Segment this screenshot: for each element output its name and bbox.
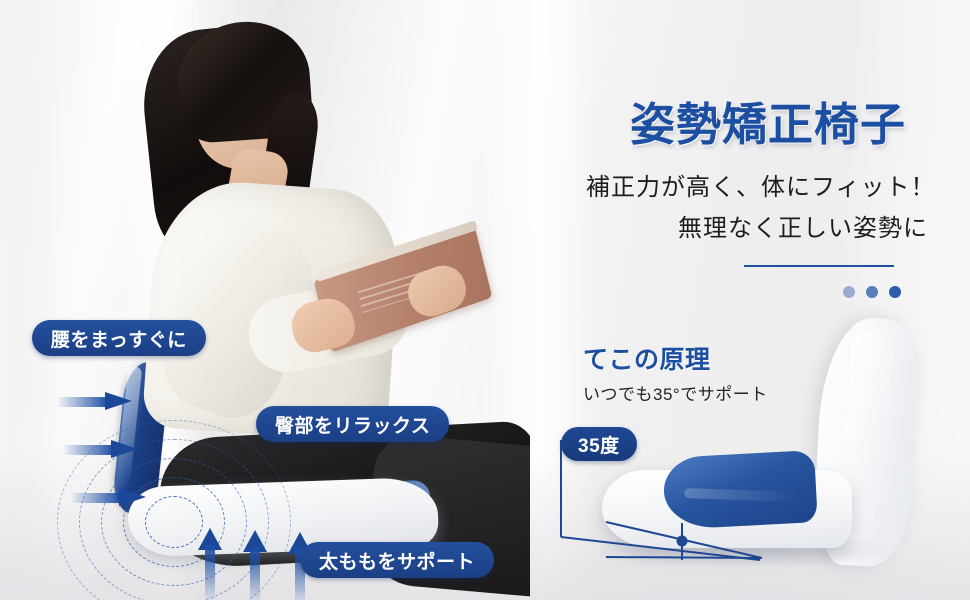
page-title: 姿勢矯正椅子 [630, 88, 906, 153]
callout-label-hip: 臀部をリラックス [275, 411, 430, 438]
callout-label-lumbar: 腰をまっすぐに [51, 325, 187, 352]
force-arrow-up [243, 530, 267, 600]
lumbar-force-arrows [58, 392, 178, 522]
callout-badge-thigh[interactable]: 太ももをサポート [300, 542, 494, 578]
pager-dot-3 [889, 286, 901, 298]
pager-dots [843, 286, 901, 298]
angle-diagram [548, 440, 808, 580]
angle-badge-label: 35度 [578, 431, 620, 458]
model-photo-scene [0, 0, 530, 600]
angle-badge[interactable]: 35度 [561, 427, 637, 461]
force-arrow-right [72, 488, 146, 507]
divider-rule [744, 265, 894, 267]
lever-heading: てこの原理 [583, 340, 711, 376]
pager-dot-1 [843, 286, 855, 298]
product-banner: 腰をまっすぐに 臀部をリラックス 太ももをサポート 35度 姿勢矯正椅子 補正力… [0, 0, 970, 600]
force-arrow-right [64, 440, 138, 459]
callout-badge-hip[interactable]: 臀部をリラックス [256, 406, 449, 442]
subtitle-line-1: 補正力が高く、体にフィット！ [586, 167, 936, 202]
force-arrow-up [198, 528, 222, 600]
subtitle-line-2: 無理なく正しい姿勢に [678, 208, 928, 243]
lever-description: いつでも35°でサポート [583, 380, 768, 405]
callout-badge-lumbar[interactable]: 腰をまっすぐに [32, 320, 206, 356]
pager-dot-2 [866, 286, 878, 298]
callout-label-thigh: 太ももをサポート [319, 547, 475, 574]
force-arrow-right [58, 392, 132, 411]
